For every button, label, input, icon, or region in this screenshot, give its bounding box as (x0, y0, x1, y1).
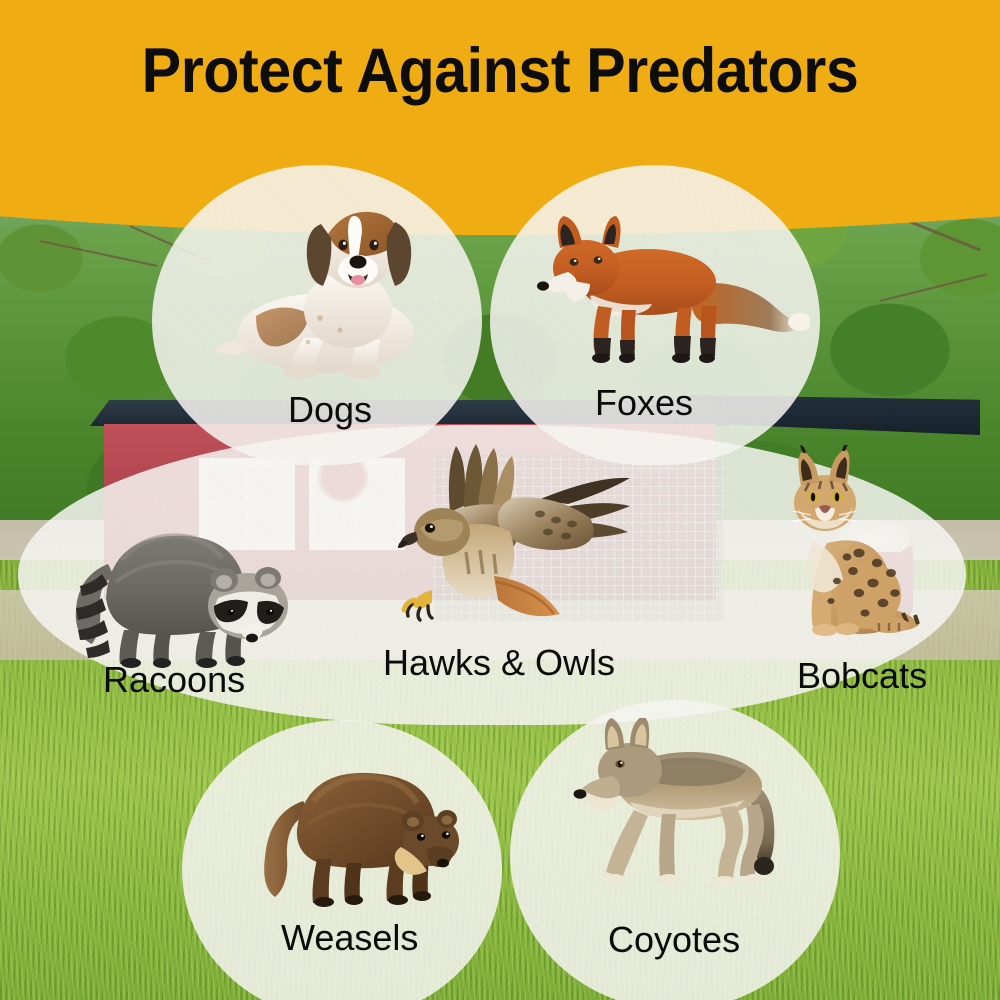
label-foxes: Foxes (595, 385, 693, 421)
label-dogs: Dogs (288, 392, 372, 428)
weasel-icon (255, 755, 460, 915)
infographic-canvas: Protect Against Predators Dogs Foxes Rac… (0, 0, 1000, 1000)
coyote-icon (568, 718, 818, 908)
label-coyotes: Coyotes (608, 922, 740, 958)
label-weasels: Weasels (281, 920, 418, 956)
label-bobcats: Bobcats (797, 658, 927, 694)
hawk-icon (390, 440, 640, 640)
fox-icon (520, 210, 810, 385)
label-racoons: Racoons (103, 662, 245, 698)
bobcat-icon (755, 445, 945, 660)
label-hawks-owls: Hawks & Owls (383, 645, 615, 681)
dog-icon (208, 190, 458, 390)
raccoon-icon (72, 490, 302, 670)
